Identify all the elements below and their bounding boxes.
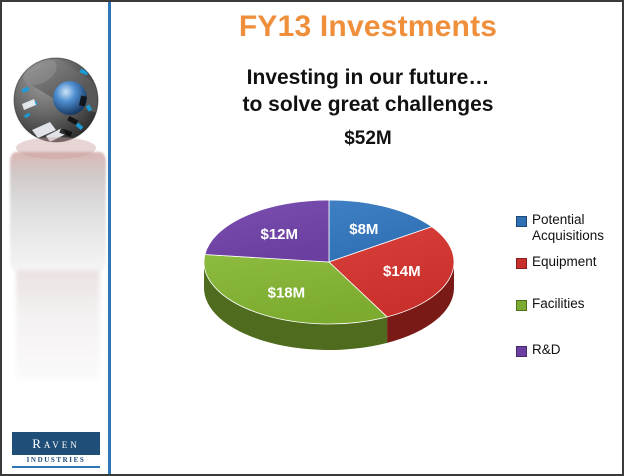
pie-chart-svg: $8M$14M$18M$12M	[192, 184, 472, 364]
legend-item-equipment[interactable]: Equipment	[516, 254, 624, 270]
legend-item-potential-acquisitions[interactable]: Potential Acquisitions	[516, 212, 624, 244]
legend-label-rd: R&D	[532, 342, 561, 358]
legend-swatch-potential-acquisitions	[516, 216, 527, 227]
investments-pie-chart: $8M$14M$18M$12M	[192, 184, 472, 364]
legend-swatch-rd	[516, 346, 527, 357]
subtitle-line-2: to solve great challenges	[110, 91, 624, 118]
pie-label-0: $8M	[349, 221, 378, 238]
pie-label-2: $18M	[268, 285, 306, 302]
legend-label-equipment: Equipment	[532, 254, 597, 270]
legend-item-facilities[interactable]: Facilities	[516, 296, 624, 312]
legend-item-rd[interactable]: R&D	[516, 342, 624, 358]
legend-label-potential-acquisitions: Potential Acquisitions	[532, 212, 624, 244]
left-rail: Raven INDUSTRIES	[2, 2, 110, 474]
legend-swatch-equipment	[516, 258, 527, 269]
subtitle-line-1: Investing in our future…	[110, 64, 624, 91]
page-title: FY13 Investments	[110, 10, 624, 44]
raven-industries-logo: Raven INDUSTRIES	[12, 432, 100, 466]
logo-underline	[12, 466, 100, 468]
technology-sphere-graphic	[10, 44, 102, 174]
chart-legend: Potential Acquisitions Equipment Facilit…	[516, 212, 624, 368]
logo-box: Raven	[12, 432, 100, 455]
pedestal-base	[16, 270, 100, 380]
logo-wordmark: Raven	[32, 436, 80, 452]
legend-swatch-facilities	[516, 300, 527, 311]
pie-label-3: $12M	[261, 226, 299, 243]
legend-label-facilities: Facilities	[532, 296, 585, 312]
slide-canvas: Raven INDUSTRIES FY13 Investments Invest…	[0, 0, 624, 476]
pie-label-1: $14M	[383, 263, 421, 280]
sphere-icon	[10, 44, 102, 174]
total-amount: $52M	[110, 128, 624, 150]
subtitle: Investing in our future… to solve great …	[110, 64, 624, 118]
logo-tagline: INDUSTRIES	[12, 456, 100, 464]
